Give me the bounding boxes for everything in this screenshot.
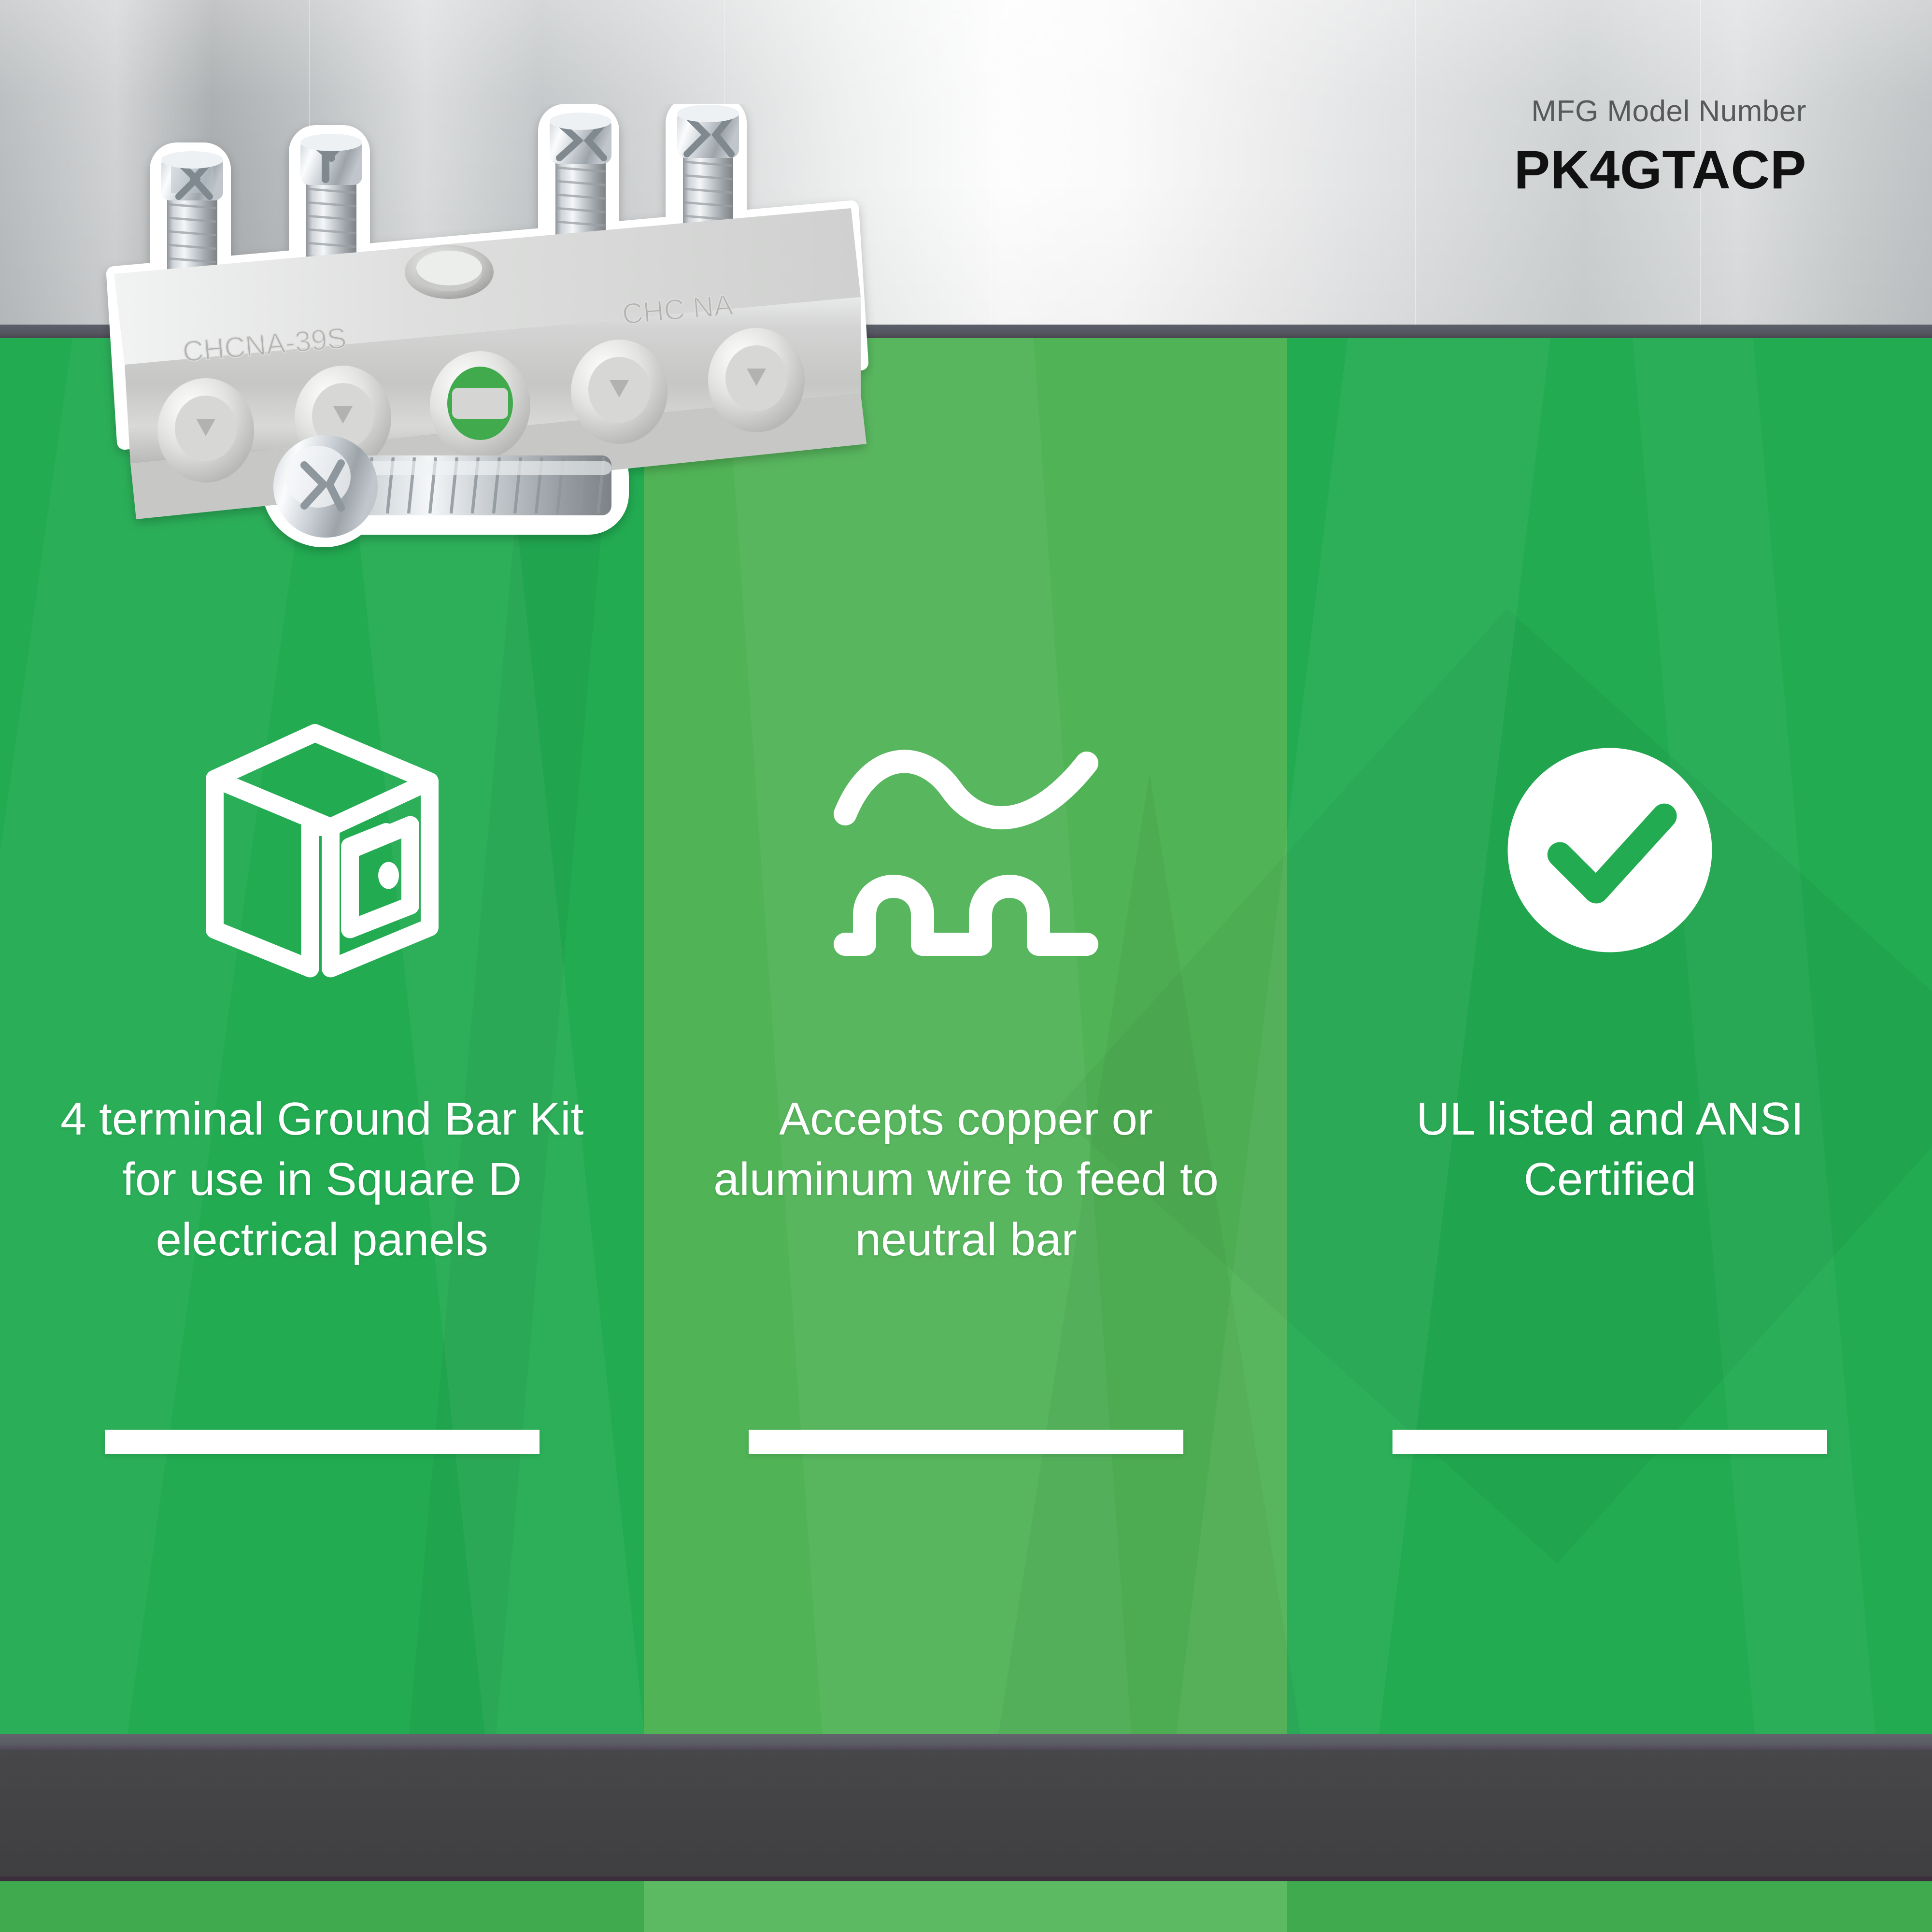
product-photo: CHCNA-39S CHC NA [82, 104, 874, 601]
bottom-divider-bar [0, 1734, 1932, 1750]
feature-underline [105, 1430, 540, 1454]
checkmark-circle-icon [1288, 715, 1932, 985]
bottom-green-segment [644, 1881, 1287, 1932]
model-number-block: MFG Model Number PK4GTACP [1514, 97, 1806, 197]
model-number-label: MFG Model Number [1514, 97, 1806, 127]
model-number-value: PK4GTACP [1514, 143, 1806, 197]
bottom-green-segment [0, 1881, 644, 1932]
product-infographic: MFG Model Number PK4GTACP [0, 0, 1932, 1932]
bottom-green-band [0, 1881, 1932, 1932]
electrical-panel-enclosure-icon [0, 715, 644, 985]
feature-text: 4 terminal Ground Bar Kit for use in Squ… [0, 1089, 644, 1270]
feature-column-certified: UL listed and ANSI Certified [1288, 338, 1932, 1734]
banner-streak [1415, 0, 1416, 325]
bottom-dark-band-edge [0, 1876, 1932, 1881]
banner-streak [990, 0, 991, 325]
bottom-green-segment [1287, 1881, 1932, 1932]
feature-underline [1392, 1430, 1827, 1454]
feature-text: UL listed and ANSI Certified [1288, 1089, 1932, 1210]
feature-text: Accepts copper or aluminum wire to feed … [644, 1089, 1288, 1270]
ac-dc-waveform-icon [644, 715, 1288, 985]
bottom-dark-band [0, 1750, 1932, 1879]
feature-underline [749, 1430, 1183, 1454]
